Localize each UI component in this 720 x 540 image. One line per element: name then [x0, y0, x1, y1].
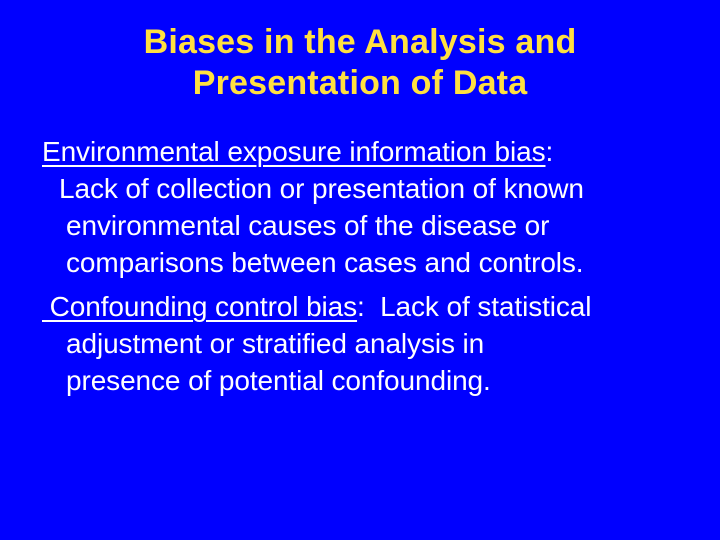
term-label-confounding: Confounding control bias: [42, 291, 357, 322]
definition-line: adjustment or stratified analysis in: [42, 325, 692, 362]
presentation-slide: Biases in the Analysis and Presentation …: [0, 0, 720, 540]
definition-line: Lack of collection or presentation of kn…: [42, 170, 692, 207]
slide-body: Environmental exposure information bias:…: [42, 133, 692, 402]
page-title: Biases in the Analysis and Presentation …: [0, 22, 720, 104]
definition-line: environmental causes of the disease or: [42, 207, 692, 244]
term-suffix-confounding: : Lack of statistical: [357, 291, 591, 322]
bias-definition-confounding: Confounding control bias: Lack of statis…: [42, 288, 692, 399]
term-line-confounding: Confounding control bias: Lack of statis…: [42, 288, 692, 325]
term-line-environmental: Environmental exposure information bias:: [42, 133, 692, 170]
definition-line: presence of potential confounding.: [42, 362, 692, 399]
definition-line: comparisons between cases and controls.: [42, 244, 692, 281]
term-suffix-environmental: :: [545, 136, 553, 167]
bias-definition-environmental: Environmental exposure information bias:…: [42, 133, 692, 281]
term-label-environmental: Environmental exposure information bias: [42, 136, 545, 167]
